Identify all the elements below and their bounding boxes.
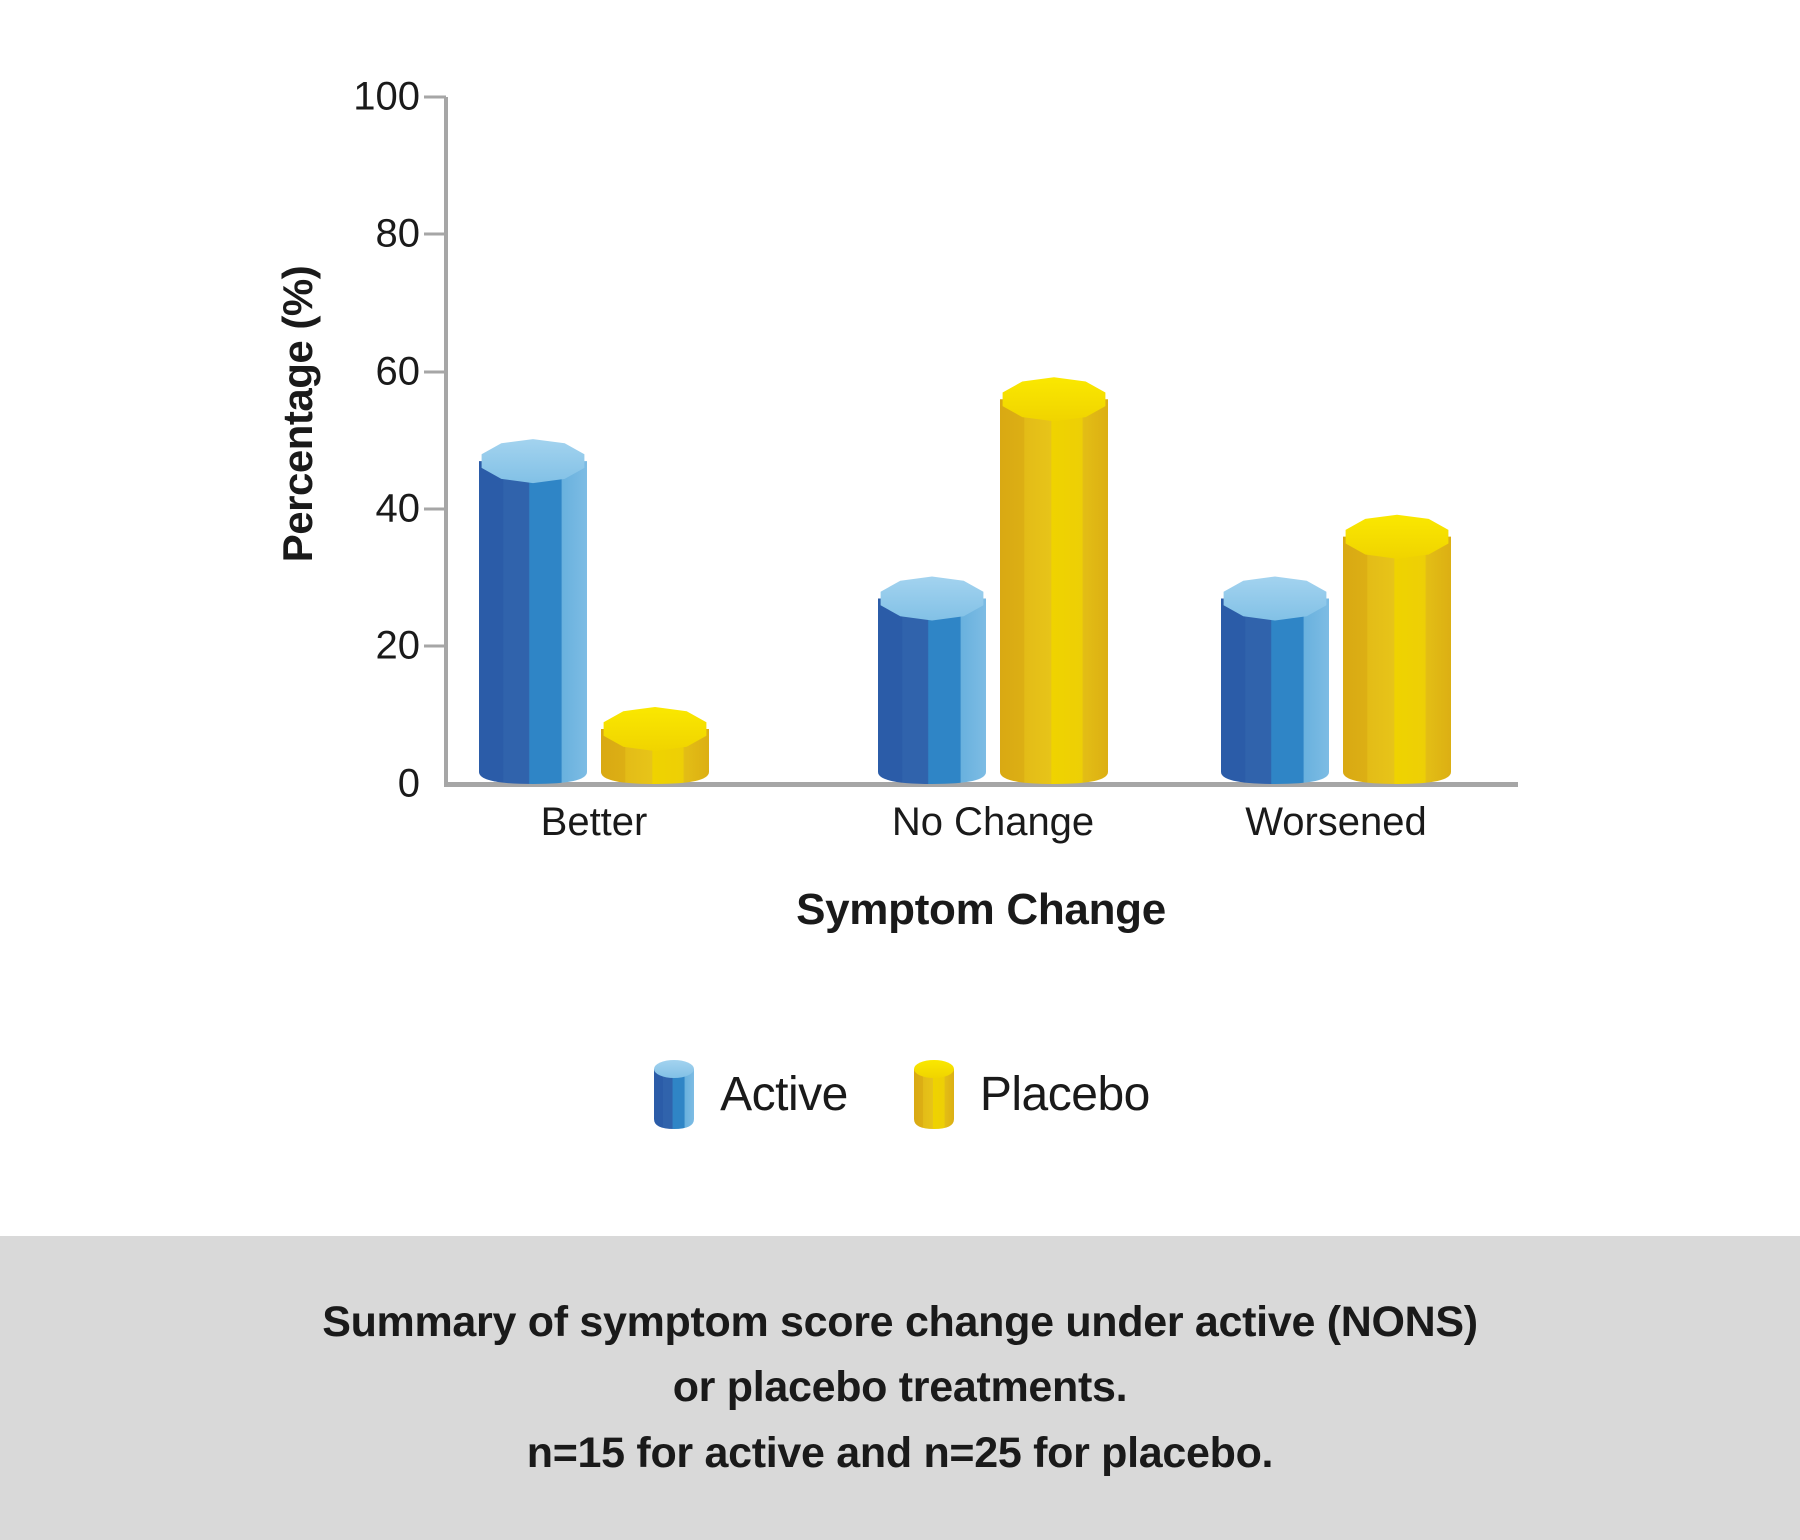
bar-cap bbox=[482, 439, 585, 483]
y-axis-tick-labels: 100 80 60 40 20 0 bbox=[310, 0, 420, 1230]
x-cat-label-worsened: Worsened bbox=[1245, 800, 1427, 845]
bar-no-change-active bbox=[878, 599, 986, 784]
legend-label-placebo: Placebo bbox=[980, 1067, 1150, 1122]
chart-legend: Active Placebo bbox=[0, 1055, 1800, 1133]
y-tick-mark-40 bbox=[424, 508, 446, 511]
y-tick-label-60: 60 bbox=[310, 350, 420, 395]
legend-item-placebo[interactable]: Placebo bbox=[910, 1055, 1150, 1133]
bar-no-change-placebo bbox=[1000, 399, 1108, 784]
y-tick-mark-80 bbox=[424, 233, 446, 236]
y-tick-label-80: 80 bbox=[310, 212, 420, 257]
legend-item-active[interactable]: Active bbox=[650, 1055, 848, 1133]
y-tick-label-0: 0 bbox=[310, 762, 420, 807]
x-axis-title: Symptom Change bbox=[444, 885, 1518, 935]
caption-line-3: n=15 for active and n=25 for placebo. bbox=[527, 1425, 1273, 1483]
bar-cap bbox=[604, 707, 707, 751]
caption-line-2: or placebo treatments. bbox=[673, 1359, 1128, 1417]
bar-cap bbox=[1224, 577, 1327, 621]
bar-worsened-active bbox=[1221, 599, 1329, 784]
bar-cap bbox=[1003, 377, 1106, 421]
y-tick-mark-20 bbox=[424, 645, 446, 648]
blue-cylinder-icon bbox=[650, 1055, 698, 1133]
yellow-cylinder-icon bbox=[910, 1055, 958, 1133]
y-tick-label-20: 20 bbox=[310, 624, 420, 669]
caption-line-1: Summary of symptom score change under ac… bbox=[322, 1294, 1478, 1352]
y-tick-label-100: 100 bbox=[310, 75, 420, 120]
y-tick-label-40: 40 bbox=[310, 487, 420, 532]
bar-chart: Percentage (%) 100 80 60 40 20 0 bbox=[0, 0, 1800, 1230]
x-cat-label-no-change: No Change bbox=[892, 800, 1094, 845]
bar-cap bbox=[1346, 515, 1449, 559]
bar-cap bbox=[881, 577, 984, 621]
figure-container: Percentage (%) 100 80 60 40 20 0 bbox=[0, 0, 1800, 1540]
y-tick-mark-60 bbox=[424, 371, 446, 374]
plot-bars bbox=[444, 97, 1518, 784]
legend-label-active: Active bbox=[720, 1067, 848, 1122]
bar-worsened-placebo bbox=[1343, 537, 1451, 784]
bar-better-active bbox=[479, 461, 587, 784]
x-cat-label-better: Better bbox=[541, 800, 648, 845]
y-tick-mark-100 bbox=[424, 96, 446, 99]
figure-caption: Summary of symptom score change under ac… bbox=[0, 1236, 1800, 1540]
